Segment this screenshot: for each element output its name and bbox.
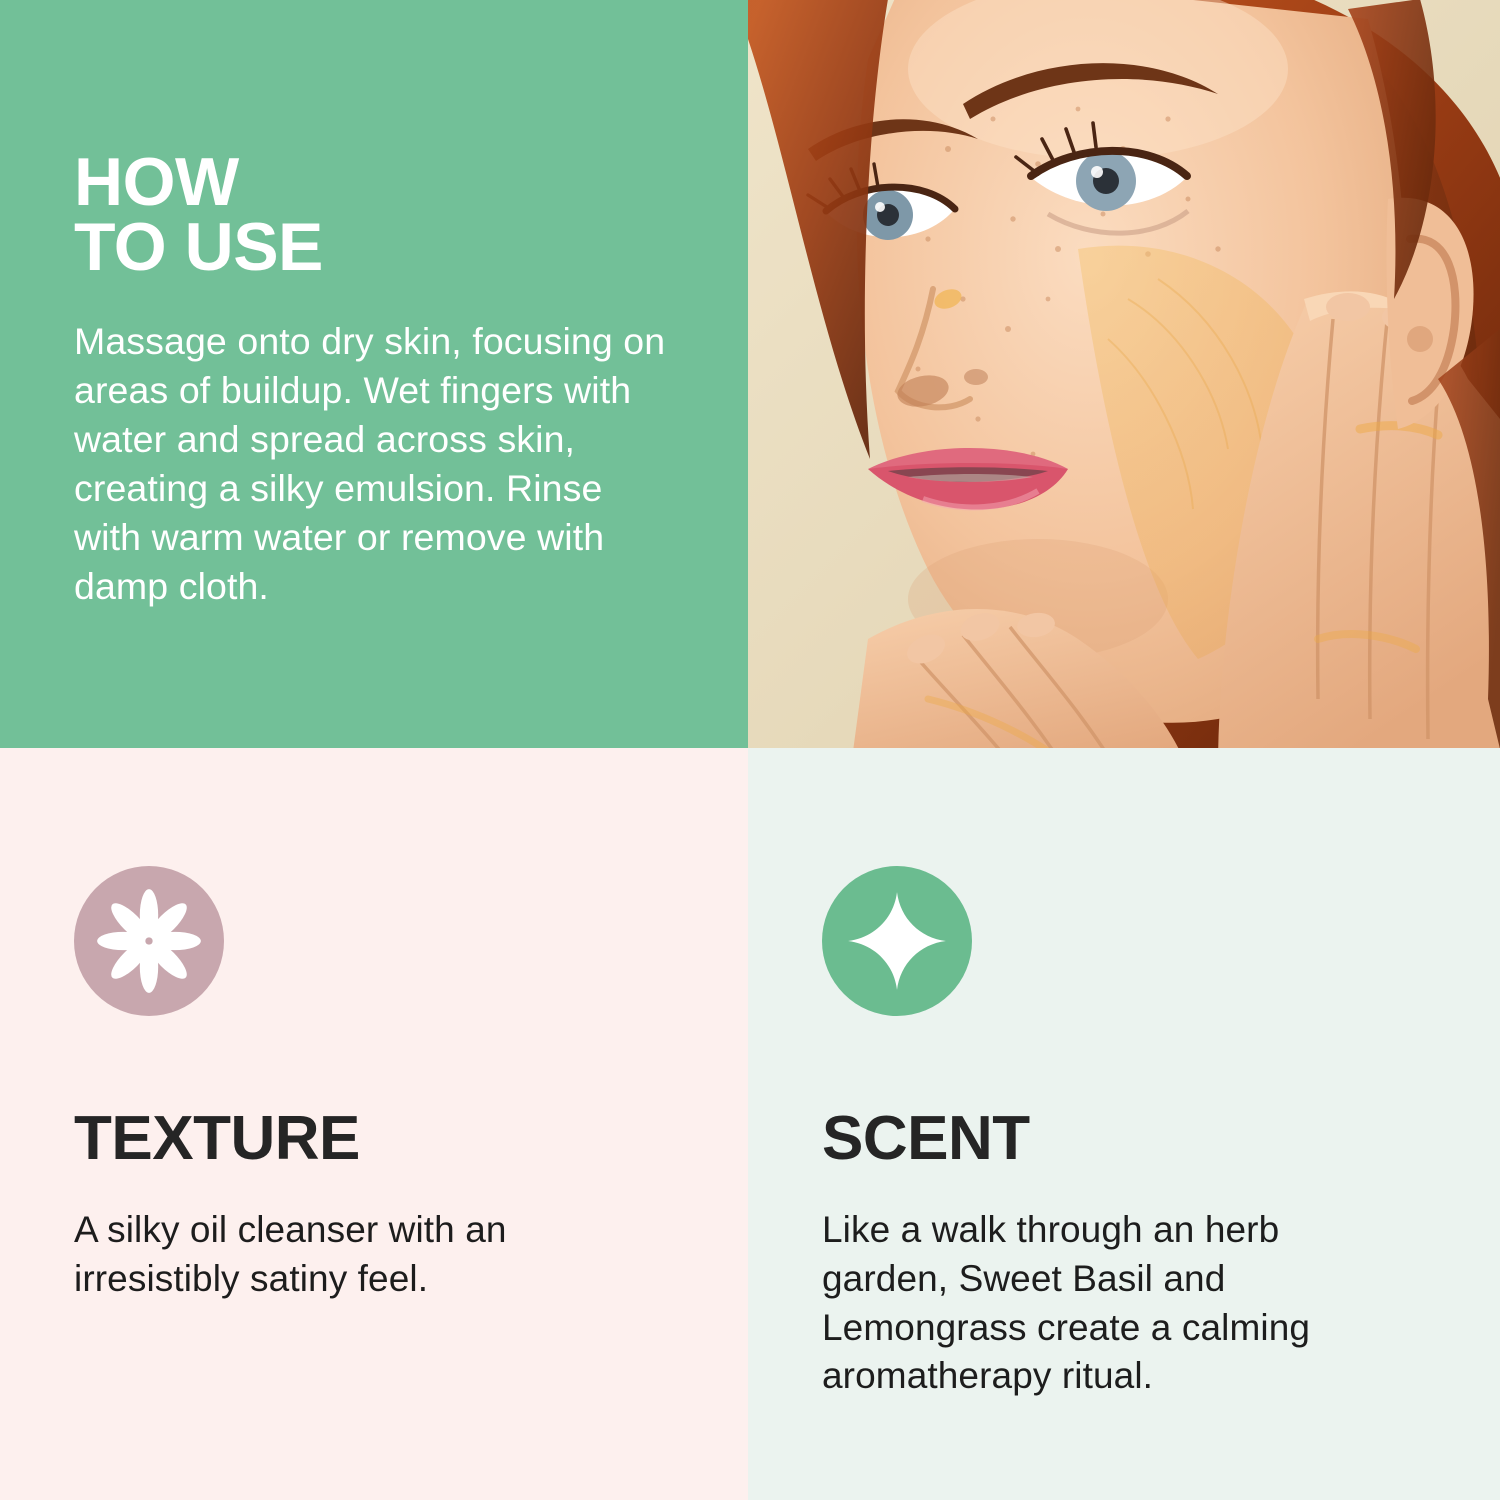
scent-panel: SCENT Like a walk through an herb garden… bbox=[748, 748, 1500, 1500]
how-to-use-title: HOW TO USE bbox=[74, 150, 674, 281]
model-photo-illustration bbox=[748, 0, 1500, 748]
scent-title: SCENT bbox=[822, 1108, 1426, 1170]
flower-icon bbox=[74, 866, 224, 1016]
model-photo bbox=[748, 0, 1500, 748]
how-to-use-panel: HOW TO USE Massage onto dry skin, focusi… bbox=[0, 0, 748, 748]
texture-panel: TEXTURE A silky oil cleanser with an irr… bbox=[0, 748, 748, 1500]
texture-body: A silky oil cleanser with an irresistibl… bbox=[74, 1206, 614, 1304]
sparkle-icon bbox=[822, 866, 972, 1016]
scent-body: Like a walk through an herb garden, Swee… bbox=[822, 1206, 1362, 1401]
product-infographic: HOW TO USE Massage onto dry skin, focusi… bbox=[0, 0, 1500, 1500]
texture-title: TEXTURE bbox=[74, 1108, 674, 1170]
how-to-use-body: Massage onto dry skin, focusing on areas… bbox=[74, 317, 674, 612]
